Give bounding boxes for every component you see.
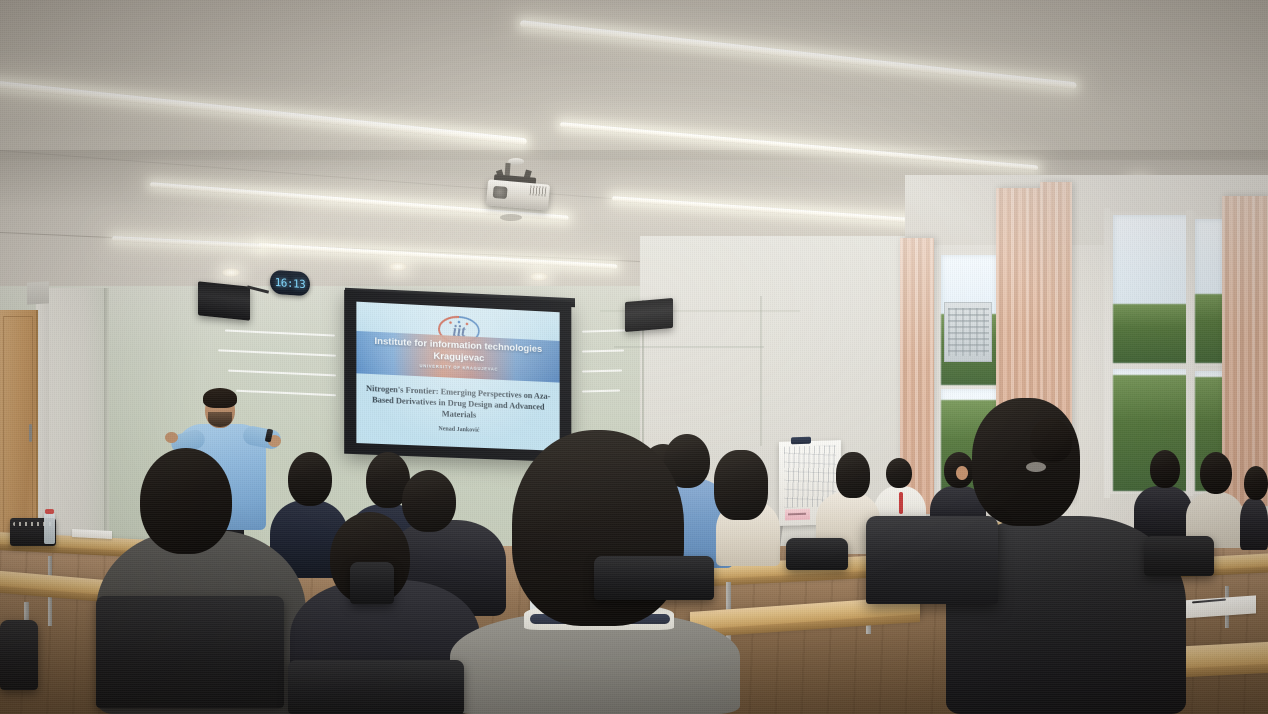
wall-speaker-right bbox=[625, 298, 673, 332]
chair[interactable] bbox=[288, 660, 464, 714]
window-curtain[interactable] bbox=[1222, 196, 1268, 506]
flipchart-pink-note bbox=[785, 509, 810, 521]
presentation-slide: iit Institute for information technologi… bbox=[356, 302, 559, 451]
attendee-head bbox=[288, 452, 332, 506]
attendee-head bbox=[972, 398, 1080, 526]
chair[interactable] bbox=[350, 562, 394, 604]
chair[interactable] bbox=[786, 538, 848, 570]
ceiling-downlight bbox=[389, 262, 407, 271]
water-bottle bbox=[44, 512, 55, 544]
presenter-left-hand bbox=[165, 432, 178, 443]
attendee-head bbox=[140, 448, 232, 554]
wall-seam bbox=[614, 346, 764, 348]
wall-seam bbox=[760, 296, 762, 446]
attendee-head bbox=[836, 452, 870, 498]
chair[interactable] bbox=[594, 556, 714, 600]
slide-author: Nenad Janković bbox=[362, 423, 553, 437]
flipchart-clip bbox=[791, 437, 811, 445]
attendee-head bbox=[1150, 450, 1180, 488]
door-handle[interactable] bbox=[29, 424, 32, 442]
chair[interactable] bbox=[866, 516, 998, 604]
ceiling-vent bbox=[500, 214, 522, 221]
ceiling-downlight bbox=[222, 268, 240, 277]
attendee-torso bbox=[1240, 498, 1268, 550]
door[interactable] bbox=[0, 310, 38, 548]
attendee-head bbox=[886, 458, 912, 488]
window-view-building bbox=[944, 302, 992, 362]
hair-clip bbox=[1026, 462, 1046, 472]
ceiling-led-strip bbox=[112, 236, 262, 249]
clock-time: 16:13 bbox=[275, 275, 306, 290]
presenter-beard bbox=[208, 412, 232, 427]
wall-digital-clock: 16:13 bbox=[270, 270, 310, 297]
wall-speaker-left bbox=[198, 281, 250, 320]
attendee-head bbox=[402, 470, 456, 532]
window-view-trees bbox=[1113, 304, 1193, 363]
attendee-head bbox=[1244, 466, 1268, 500]
ceiling-downlight bbox=[530, 272, 548, 281]
chair[interactable] bbox=[0, 620, 38, 690]
ceiling-upper-band bbox=[0, 0, 1268, 160]
attendee-hand bbox=[956, 466, 968, 480]
attendee-head bbox=[714, 450, 768, 520]
wall-column-edge bbox=[104, 288, 109, 556]
attendee-head bbox=[1200, 452, 1232, 494]
wall-sign bbox=[27, 281, 49, 304]
chair[interactable] bbox=[1144, 536, 1214, 576]
window-pane bbox=[1110, 212, 1196, 366]
lanyard bbox=[899, 492, 903, 514]
lecture-room-photo: 16:13 iit Institute for i bbox=[0, 0, 1268, 714]
ceiling-led-strip bbox=[258, 243, 618, 269]
projection-screen: iit Institute for information technologi… bbox=[344, 290, 571, 462]
attendee-hair-bun bbox=[1030, 418, 1072, 462]
slide-talk-title: Nitrogen's Frontier: Emerging Perspectiv… bbox=[362, 383, 553, 424]
window-mullion bbox=[1104, 208, 1110, 498]
wall-column bbox=[49, 288, 107, 556]
chair[interactable] bbox=[96, 596, 284, 708]
projector-vents bbox=[530, 185, 547, 196]
presenter-hair bbox=[203, 388, 237, 408]
window-mullion bbox=[1186, 210, 1193, 496]
bottle-cap bbox=[45, 509, 54, 514]
